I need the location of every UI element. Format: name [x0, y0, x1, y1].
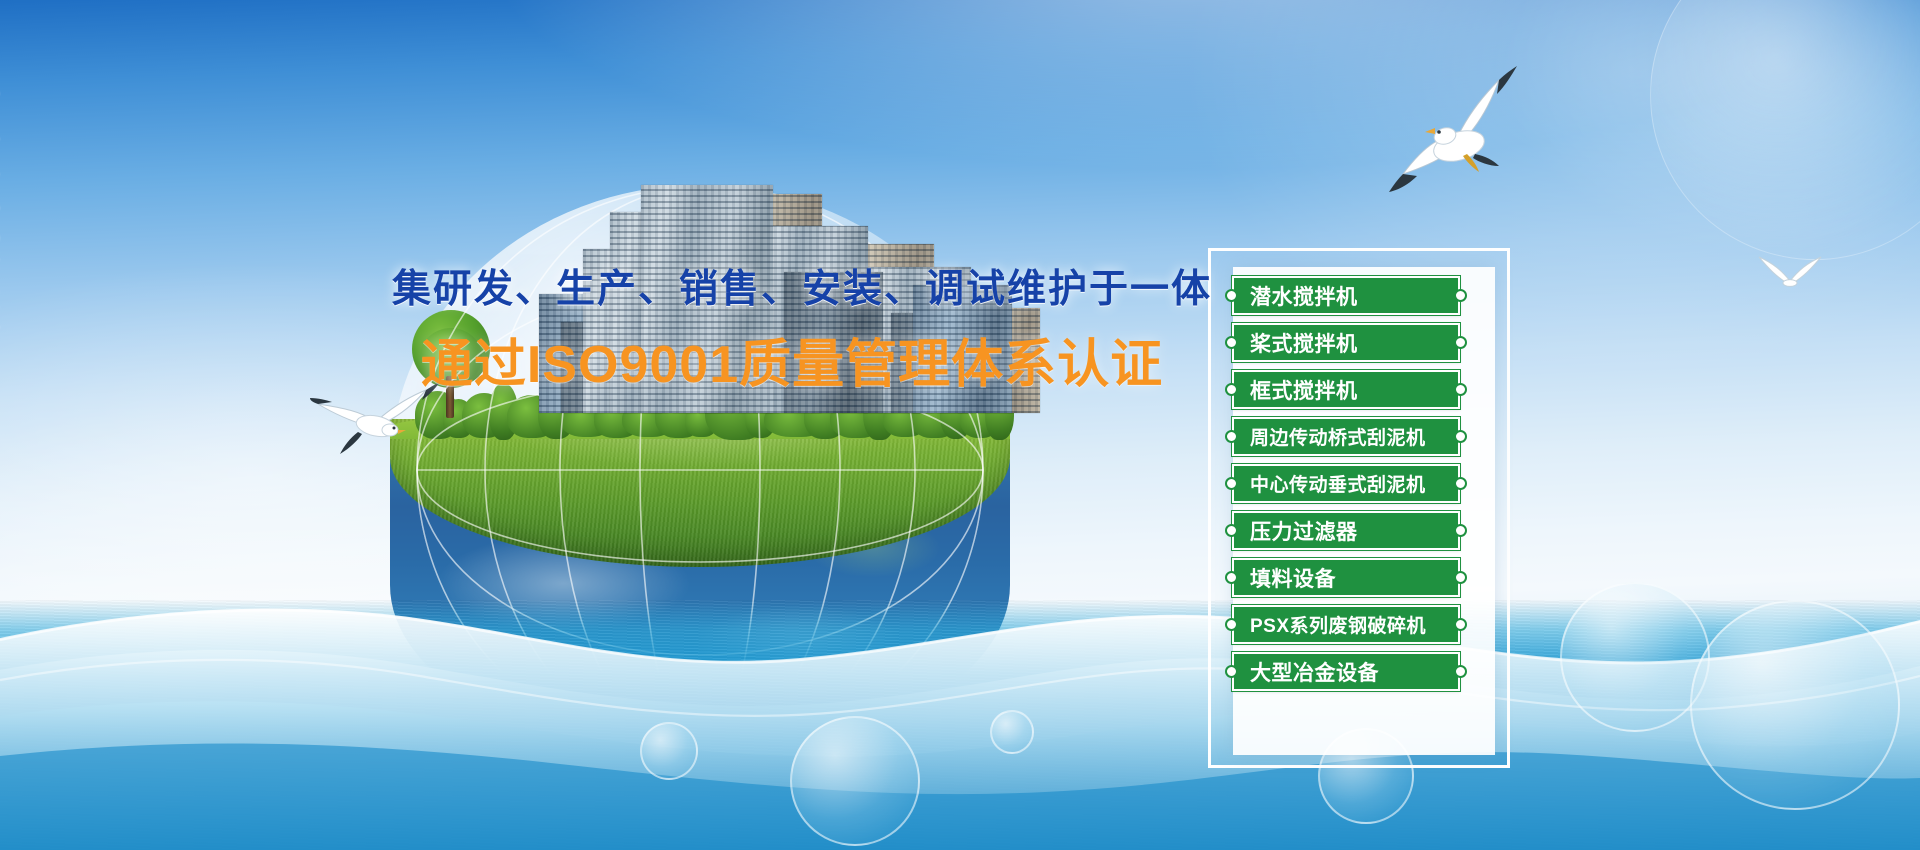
lens-flare-circle — [1650, 0, 1920, 260]
product-item-label: 大型冶金设备 — [1250, 657, 1379, 687]
promo-banner: 集研发、生产、销售、安装、调试维护于一体 通过ISO9001质量管理体系认证 — [0, 0, 1920, 850]
product-item-7[interactable]: 填料设备 — [1232, 558, 1460, 597]
product-item-label: 压力过滤器 — [1250, 516, 1358, 546]
connector-knob-right — [1454, 665, 1467, 678]
connector-knob-left — [1225, 336, 1238, 349]
product-list: 潜水搅拌机桨式搅拌机框式搅拌机周边传动桥式刮泥机中心传动垂式刮泥机压力过滤器填料… — [1232, 276, 1460, 691]
product-item-label: 潜水搅拌机 — [1250, 281, 1358, 311]
product-item-9[interactable]: 大型冶金设备 — [1232, 652, 1460, 691]
product-item-6[interactable]: 压力过滤器 — [1232, 511, 1460, 550]
product-item-label: 周边传动桥式刮泥机 — [1250, 423, 1426, 450]
product-item-1[interactable]: 潜水搅拌机 — [1232, 276, 1460, 315]
connector-knob-left — [1225, 665, 1238, 678]
product-item-4[interactable]: 周边传动桥式刮泥机 — [1232, 417, 1460, 456]
product-item-label: 框式搅拌机 — [1250, 375, 1358, 405]
connector-knob-right — [1454, 289, 1467, 302]
seagull-icon — [1375, 62, 1535, 207]
connector-knob-left — [1225, 618, 1238, 631]
connector-knob-right — [1454, 477, 1467, 490]
product-item-8[interactable]: PSX系列废钢破碎机 — [1232, 605, 1460, 644]
product-item-label: 填料设备 — [1250, 563, 1336, 593]
water-bubble — [1690, 600, 1900, 810]
product-item-3[interactable]: 框式搅拌机 — [1232, 370, 1460, 409]
headline-block: 集研发、生产、销售、安装、调试维护于一体 通过ISO9001质量管理体系认证 — [392, 258, 1192, 397]
connector-knob-left — [1225, 289, 1238, 302]
seagull-icon — [1755, 255, 1825, 295]
product-item-2[interactable]: 桨式搅拌机 — [1232, 323, 1460, 362]
connector-knob-right — [1454, 571, 1467, 584]
connector-knob-left — [1225, 571, 1238, 584]
connector-knob-right — [1454, 383, 1467, 396]
connector-knob-right — [1454, 618, 1467, 631]
headline-primary: 集研发、生产、销售、安装、调试维护于一体 — [392, 258, 1192, 314]
headline-secondary: 通过ISO9001质量管理体系认证 — [392, 322, 1192, 397]
product-item-label: 桨式搅拌机 — [1250, 328, 1358, 358]
connector-knob-left — [1225, 477, 1238, 490]
connector-knob-left — [1225, 430, 1238, 443]
connector-knob-right — [1454, 430, 1467, 443]
product-item-label: 中心传动垂式刮泥机 — [1250, 470, 1426, 497]
connector-knob-left — [1225, 524, 1238, 537]
connector-knob-left — [1225, 383, 1238, 396]
sky-sheen — [1500, 0, 1920, 260]
connector-knob-right — [1454, 336, 1467, 349]
connector-knob-right — [1454, 524, 1467, 537]
product-item-5[interactable]: 中心传动垂式刮泥机 — [1232, 464, 1460, 503]
product-item-label: PSX系列废钢破碎机 — [1250, 611, 1426, 638]
water-bubble — [1560, 582, 1710, 732]
